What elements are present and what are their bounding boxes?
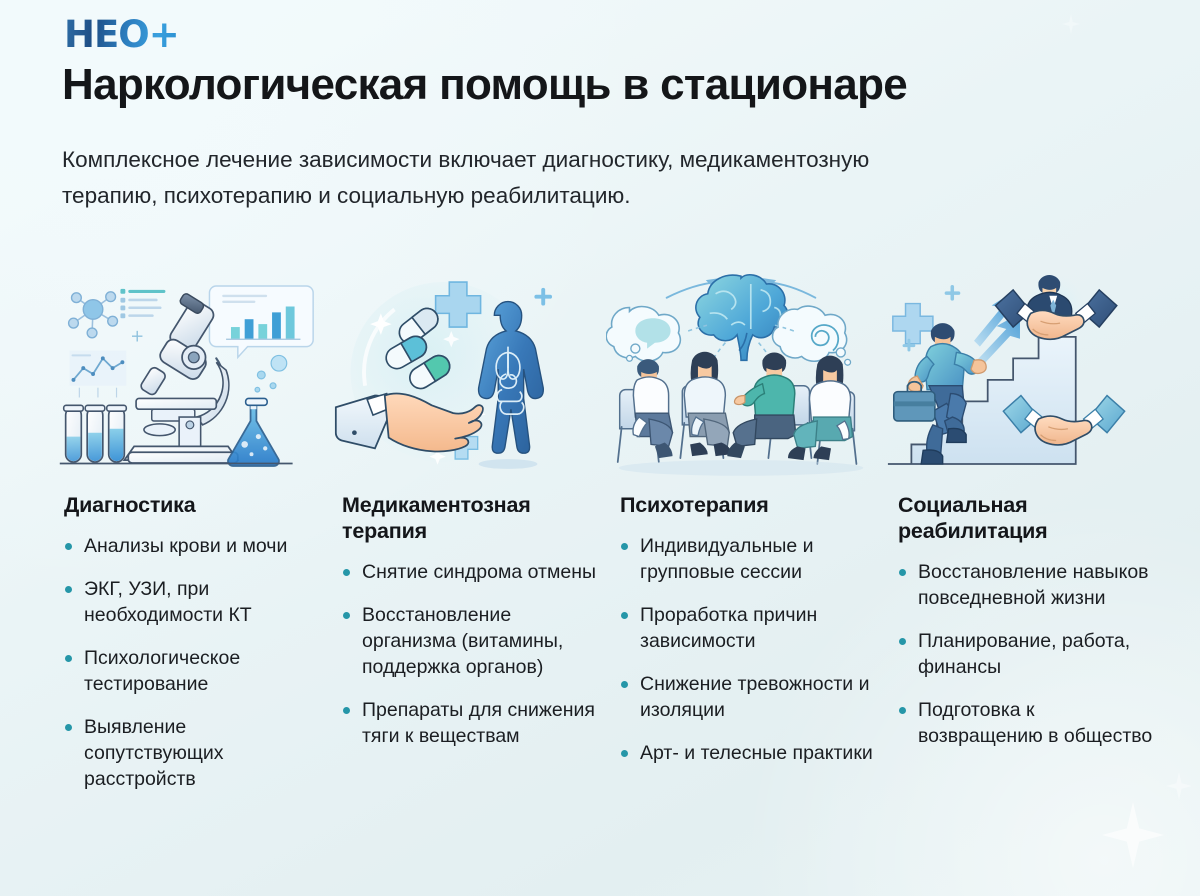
bar-chart-bubble-icon (209, 286, 313, 357)
group-psychotherapy-illustration (606, 268, 876, 480)
list-item: Психологическое тестирование (64, 646, 320, 698)
molecule-icon (69, 292, 118, 338)
social-rehabilitation-illustration (884, 268, 1154, 480)
list-item: Арт- и телесные практики (620, 741, 876, 767)
list-item: Восстановление организма (витамины, подд… (342, 603, 598, 681)
list-item: Восстановление навыков повседневной жизн… (898, 560, 1154, 612)
seated-person-icon (633, 359, 673, 458)
list-item: Подготовка к возвращению в общество (898, 698, 1154, 750)
sparkle-icon (1166, 772, 1192, 800)
column-social-rehabilitation: Социальная реабилитация Восстановление н… (884, 268, 1154, 878)
infographic-poster: НЕО+ Наркологическая помощь в стационаре… (0, 0, 1200, 896)
logo-text: НЕО+ (64, 16, 179, 53)
columns-container: + (50, 268, 1154, 878)
list-item: Препараты для снижения тяги к веществам (342, 698, 598, 750)
thought-cloud-icon (606, 307, 680, 362)
bubbles-icon (255, 355, 287, 392)
shoe-icon (947, 428, 967, 442)
column-list: Восстановление навыков повседневной жизн… (884, 560, 1154, 750)
list-item: Снятие синдрома отмены (342, 560, 598, 586)
list-item: Проработка причин зависимости (620, 603, 876, 655)
test-tubes-icon (64, 405, 127, 462)
neo-plus-logo: НЕО+ (64, 14, 179, 54)
page-subtitle: Комплексное лечение зависимости включает… (62, 142, 942, 215)
column-title: Медикаментозная терапия (328, 492, 598, 544)
column-list: Анализы крови и мочи ЭКГ, УЗИ, при необх… (50, 534, 320, 792)
sparkle-icon (1062, 14, 1080, 34)
column-title: Психотерапия (606, 492, 876, 518)
plus-icon (534, 288, 552, 306)
list-item: Индивидуальные и групповые сессии (620, 534, 876, 586)
column-list: Снятие синдрома отмены Восстановление ор… (328, 560, 598, 750)
seated-person-icon (727, 352, 795, 458)
column-diagnostics: + (50, 268, 320, 878)
checklist-icon (120, 289, 165, 318)
list-item: Снижение тревожности и изоляции (620, 672, 876, 724)
list-item: Анализы крови и мочи (64, 534, 320, 560)
plus-icon: + (130, 327, 144, 346)
column-medication-therapy: Медикаментозная терапия Снятие синдрома … (328, 268, 598, 878)
floor-shadow (619, 460, 864, 476)
list-item: ЭКГ, УЗИ, при необходимости КТ (64, 577, 320, 629)
laboratory-diagnostics-illustration: + (50, 268, 320, 480)
column-title: Социальная реабилитация (884, 492, 1154, 544)
thought-cloud-icon (773, 306, 851, 365)
column-list: Индивидуальные и групповые сессии Прораб… (606, 534, 876, 766)
medical-cross-icon (893, 304, 933, 344)
shoe-icon (921, 450, 943, 464)
brain-icon (696, 275, 788, 360)
cuff-button-icon (352, 430, 357, 435)
column-title: Диагностика (50, 492, 320, 518)
column-psychotherapy: Психотерапия Индивидуальные и групповые … (606, 268, 876, 878)
flask-icon (228, 398, 279, 466)
line-chart-icon (70, 351, 127, 398)
list-item: Выявление сопутствующих расстройств (64, 715, 320, 793)
medication-therapy-illustration (328, 268, 598, 480)
list-item: Планирование, работа, финансы (898, 629, 1154, 681)
seated-person-icon (684, 352, 731, 456)
page-title: Наркологическая помощь в стационаре (62, 62, 1152, 108)
